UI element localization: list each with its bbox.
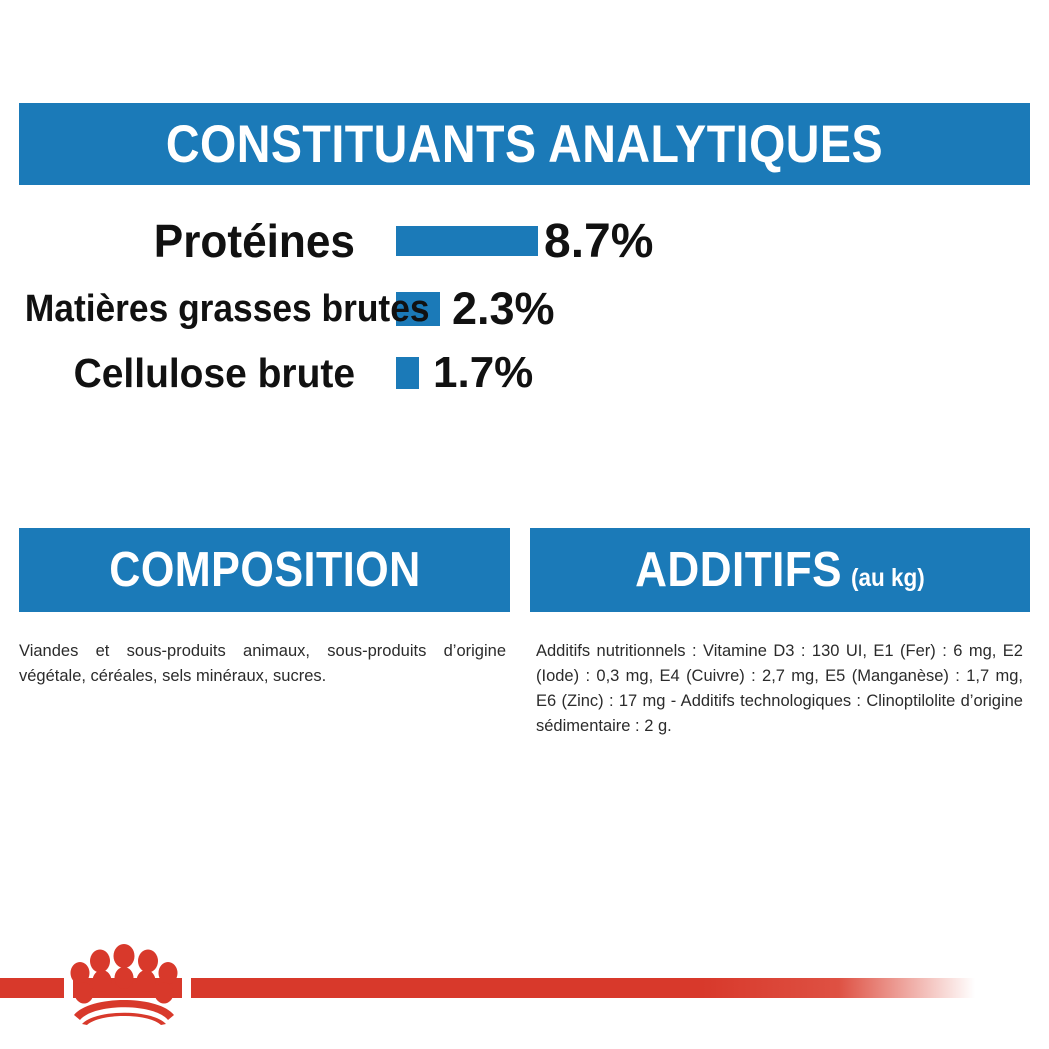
section-header-composition-label: COMPOSITION bbox=[109, 546, 420, 595]
nutrient-row-crude-fibre: Cellulose brute 1.7% bbox=[0, 342, 1049, 404]
section-header-analytical-constituents: CONSTITUANTS ANALYTIQUES bbox=[19, 103, 1030, 185]
nutrient-bar-crude-fibre bbox=[396, 357, 419, 389]
nutrient-label-crude-fibre: Cellulose brute bbox=[18, 350, 355, 397]
nutrient-label-crude-fat: Matières grasses brutes bbox=[25, 288, 355, 331]
nutrient-row-proteins: Protéines 8.7% bbox=[0, 210, 1049, 272]
section-header-additives: ADDITIFS (au kg) bbox=[530, 528, 1030, 612]
additives-body-text: Additifs nutritionnels : Vitamine D3 : 1… bbox=[536, 639, 1023, 739]
composition-body-text: Viandes et sous-produits animaux, sous-p… bbox=[19, 639, 506, 689]
nutrient-value-crude-fat: 2.3% bbox=[452, 283, 555, 335]
nutrient-row-crude-fat: Matières grasses brutes 2.3% bbox=[0, 278, 1049, 340]
section-header-additives-label: ADDITIFS bbox=[635, 546, 842, 595]
footer-rule-notch-right bbox=[182, 974, 191, 1002]
nutrition-panel: CONSTITUANTS ANALYTIQUES Protéines 8.7% … bbox=[0, 0, 1049, 1049]
section-header-composition: COMPOSITION bbox=[19, 528, 510, 612]
nutrient-bar-proteins bbox=[396, 226, 538, 256]
section-header-analytical-constituents-label: CONSTITUANTS ANALYTIQUES bbox=[166, 118, 883, 171]
royal-canin-crown-icon bbox=[68, 943, 180, 1025]
nutrient-value-proteins: 8.7% bbox=[544, 214, 653, 269]
section-header-additives-unit: (au kg) bbox=[851, 566, 925, 591]
nutrient-label-proteins: Protéines bbox=[14, 214, 355, 268]
nutrient-value-crude-fibre: 1.7% bbox=[433, 348, 533, 398]
